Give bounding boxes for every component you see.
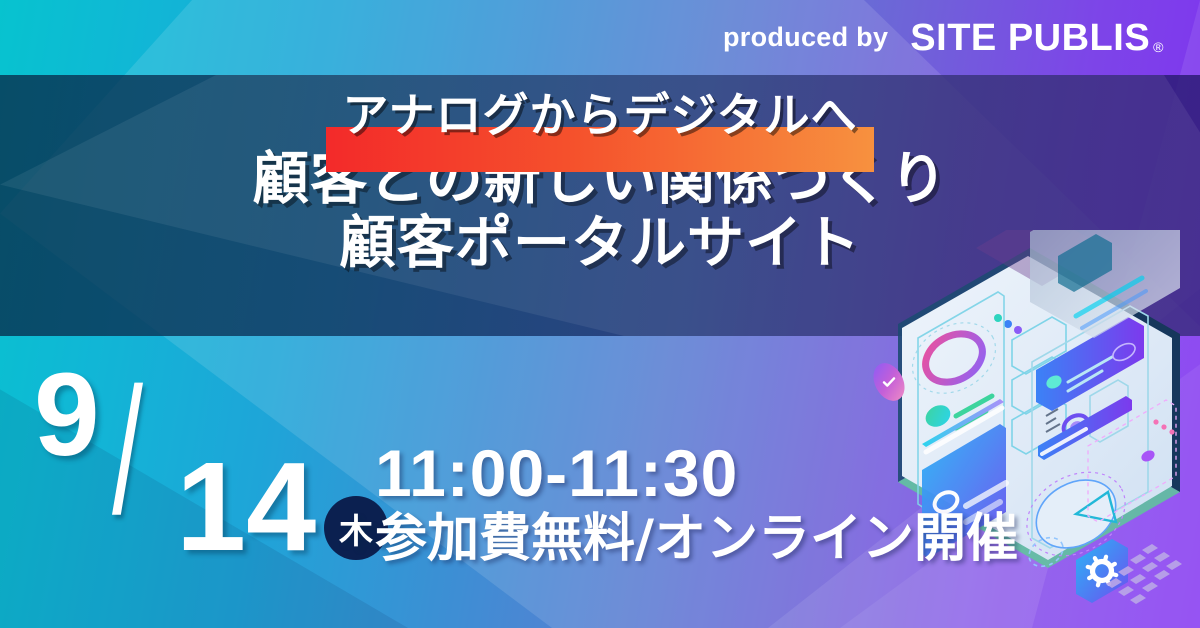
webinar-banner: produced by SITE PUBLIS ® アナログからデジタルへ 顧客… xyxy=(0,0,1200,628)
site-publis-logo: SITE PUBLIS ® xyxy=(910,19,1164,57)
event-date-block: 9 / 14 木 xyxy=(34,366,334,566)
produced-by-label: produced by xyxy=(723,22,888,53)
event-notice: 参加費無料/オンライン開催 xyxy=(375,511,1018,568)
headline-block: アナログからデジタルへ 顧客との新しい関係づくり 顧客ポータルサイト xyxy=(0,88,1200,276)
date-numerals: 9 / 14 木 xyxy=(34,366,334,566)
event-details-block: 11:00-11:30 参加費無料/オンライン開催 xyxy=(375,440,1018,569)
event-day: 14 xyxy=(176,444,316,570)
headline-line1: アナログからデジタルへ xyxy=(342,88,857,142)
registered-trademark-icon: ® xyxy=(1153,40,1164,54)
date-separator: / xyxy=(112,362,143,542)
event-month: 9 xyxy=(34,356,100,474)
headline-line1-wrapper: アナログからデジタルへ xyxy=(342,88,857,142)
event-time: 11:00-11:30 xyxy=(375,440,1018,507)
brand-name: SITE PUBLIS xyxy=(910,19,1150,57)
headline-line3: 顧客ポータルサイト xyxy=(0,212,1200,276)
producer-bar: produced by SITE PUBLIS ® xyxy=(0,0,1200,75)
